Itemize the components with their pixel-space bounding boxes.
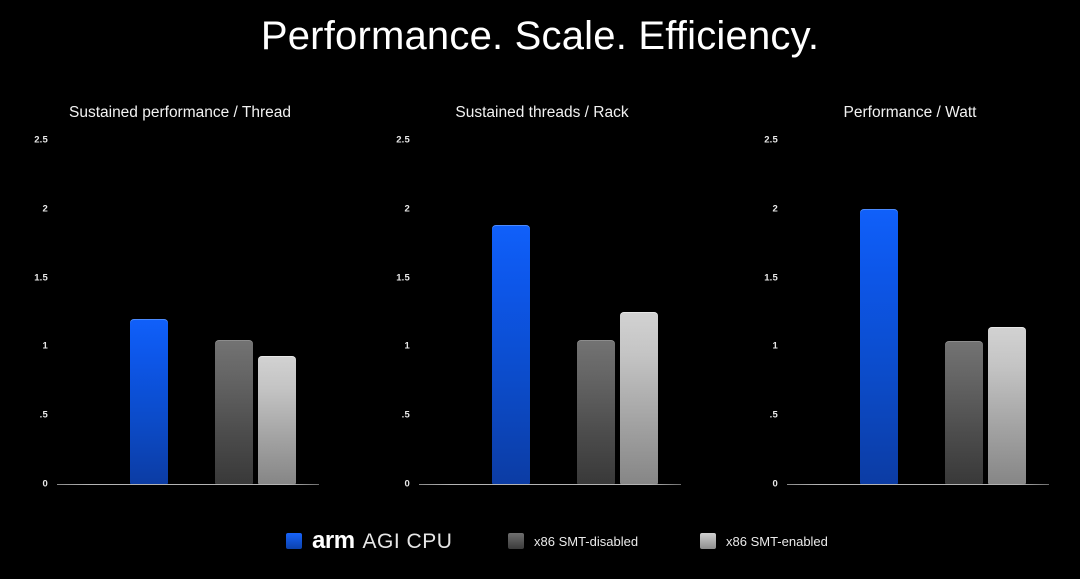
- y-axis-tick: 1.5: [8, 272, 48, 283]
- bar-group: [787, 140, 1049, 484]
- y-axis-tick: 2.5: [738, 135, 778, 146]
- y-axis-tick: 1.5: [370, 272, 410, 283]
- chart-plot-area: 2.5 2 1.5 1 .5 0: [372, 140, 712, 485]
- legend-label: arm AGI CPU: [312, 529, 452, 553]
- page-title: Performance. Scale. Efficiency.: [0, 14, 1080, 59]
- legend-item-x86-smt-disabled[interactable]: x86 SMT-disabled: [508, 528, 638, 554]
- bar-x86-smt-disabled[interactable]: [577, 340, 615, 484]
- chart-legend: arm AGI CPU x86 SMT-disabled x86 SMT-ena…: [0, 528, 1080, 568]
- legend-swatch-icon: [286, 533, 302, 549]
- chart-panel-performance-per-watt: Performance / Watt 2.5 2 1.5 1 .5 0: [740, 100, 1080, 500]
- bar-x86-smt-enabled[interactable]: [988, 327, 1026, 484]
- y-axis-tick: 2: [370, 203, 410, 214]
- y-axis-tick: 1: [8, 341, 48, 352]
- x-axis-line: [787, 484, 1049, 485]
- bar-x86-smt-enabled[interactable]: [258, 356, 296, 484]
- y-axis-tick: 2: [738, 203, 778, 214]
- arm-logo: arm: [312, 529, 355, 553]
- x-axis-line: [57, 484, 319, 485]
- y-axis-tick: 0: [370, 479, 410, 490]
- charts-container: Sustained performance / Thread 2.5 2 1.5…: [0, 100, 1080, 500]
- chart-title: Performance / Watt: [740, 104, 1080, 122]
- legend-swatch-icon: [508, 533, 524, 549]
- chart-plot-area: 2.5 2 1.5 1 .5 0: [10, 140, 350, 485]
- legend-item-x86-smt-enabled[interactable]: x86 SMT-enabled: [700, 528, 828, 554]
- legend-swatch-icon: [700, 533, 716, 549]
- y-axis-tick: 1: [738, 341, 778, 352]
- chart-title: Sustained performance / Thread: [10, 104, 350, 122]
- presentation-slide: Performance. Scale. Efficiency. Sustaine…: [0, 0, 1080, 579]
- bar-x86-smt-disabled[interactable]: [215, 340, 253, 484]
- bar-arm-agi-cpu[interactable]: [492, 225, 530, 484]
- y-axis-tick: .5: [8, 410, 48, 421]
- y-axis-tick: .5: [738, 410, 778, 421]
- y-axis-tick: 2.5: [370, 135, 410, 146]
- bar-x86-smt-enabled[interactable]: [620, 312, 658, 484]
- chart-panel-sustained-performance-per-thread: Sustained performance / Thread 2.5 2 1.5…: [10, 100, 350, 500]
- chart-panel-sustained-threads-per-rack: Sustained threads / Rack 2.5 2 1.5 1 .5 …: [372, 100, 712, 500]
- y-axis-tick: .5: [370, 410, 410, 421]
- y-axis-tick: 2: [8, 203, 48, 214]
- y-axis-tick: 0: [738, 479, 778, 490]
- chart-title: Sustained threads / Rack: [372, 104, 712, 122]
- bar-arm-agi-cpu[interactable]: [130, 319, 168, 484]
- legend-item-arm-agi-cpu[interactable]: arm AGI CPU: [286, 528, 452, 554]
- bar-group: [419, 140, 681, 484]
- bar-x86-smt-disabled[interactable]: [945, 341, 983, 484]
- y-axis-tick: 0: [8, 479, 48, 490]
- legend-label: x86 SMT-enabled: [726, 534, 828, 549]
- y-axis-tick: 1: [370, 341, 410, 352]
- bar-arm-agi-cpu[interactable]: [860, 209, 898, 484]
- y-axis-tick: 2.5: [8, 135, 48, 146]
- chart-plot-area: 2.5 2 1.5 1 .5 0: [740, 140, 1080, 485]
- x-axis-line: [419, 484, 681, 485]
- legend-label-suffix: AGI CPU: [363, 531, 453, 552]
- bar-group: [57, 140, 319, 484]
- y-axis-tick: 1.5: [738, 272, 778, 283]
- legend-label: x86 SMT-disabled: [534, 534, 638, 549]
